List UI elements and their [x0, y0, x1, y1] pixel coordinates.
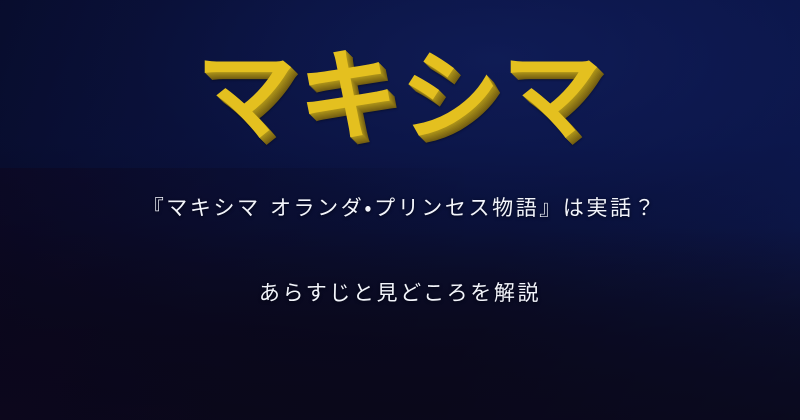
- page-title: マキシマ: [196, 44, 604, 149]
- subtitle-line-1: 『マキシマ オランダ・プリンセス物語』は実話？: [0, 193, 800, 225]
- subtitle-line-2: あらすじと見どころを解説: [0, 278, 800, 310]
- title-area: マキシマ: [0, 44, 800, 149]
- eyecatch-banner: マキシマ 『マキシマ オランダ・プリンセス物語』は実話？ あらすじと見どころを解…: [0, 0, 800, 420]
- subtitle-area: 『マキシマ オランダ・プリンセス物語』は実話？ あらすじと見どころを解説: [0, 193, 800, 309]
